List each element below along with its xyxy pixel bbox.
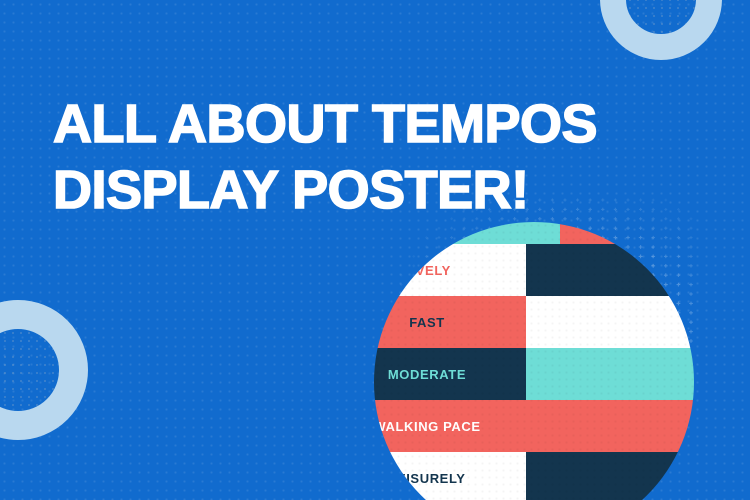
tempo-row-description-cell: WALKING PACE [374, 400, 526, 452]
tempo-row-name-cell: MODERATO108 - 120BPM [526, 348, 694, 400]
tempo-row: LIVELYVIVACE168 - 176BPM [374, 244, 694, 296]
ring-dot-texture [0, 329, 59, 411]
poster-preview-canvas: ALL ABOUT TEMPOS DISPLAY POSTER! LIVELYV… [0, 0, 750, 500]
title-line-1: ALL ABOUT TEMPOS [53, 91, 713, 157]
tempo-row: MODERATEMODERATO108 - 120BPM [374, 348, 694, 400]
tempo-row-name-cell: ADAGIO66 - 76BPM [526, 452, 694, 500]
title-line-2: DISPLAY POSTER! [53, 157, 713, 223]
tempo-row-description-cell: LIVELY [374, 244, 526, 296]
tempo-row-description-cell: MODERATE [374, 348, 526, 400]
tempo-row-list: LIVELYVIVACE168 - 176BPMFASTALLEGRO120 -… [374, 244, 694, 500]
tempo-description-label: LIVELY [403, 263, 451, 278]
page-title: ALL ABOUT TEMPOS DISPLAY POSTER! [53, 91, 713, 223]
tempo-name-label: MODERATO [693, 350, 694, 384]
tempo-description-label: MODERATE [388, 367, 466, 382]
ring-dot-texture [626, 0, 696, 34]
tempo-row-name-cell: ALLEGRO120 - 168BPM [526, 296, 694, 348]
tempo-row-description-cell: LEISURELY [374, 452, 526, 500]
tempo-row: FASTALLEGRO120 - 168BPM [374, 296, 694, 348]
tempo-row-name-cell: ANDANTE76 - 108BPM [526, 400, 694, 452]
tempo-description-label: LEISURELY [388, 471, 465, 486]
decorative-ring-top-right-icon [600, 0, 722, 60]
poster-top-band [374, 222, 694, 244]
tempo-row-name-cell: VIVACE168 - 176BPM [526, 244, 694, 296]
top-band-salmon-segment [560, 222, 694, 244]
tempo-poster-content: LIVELYVIVACE168 - 176BPMFASTALLEGRO120 -… [374, 222, 694, 500]
decorative-ring-bottom-left-icon [0, 300, 88, 440]
tempo-poster-circle[interactable]: LIVELYVIVACE168 - 176BPMFASTALLEGRO120 -… [374, 222, 694, 500]
tempo-description-label: WALKING PACE [374, 419, 481, 434]
top-band-mint-segment [374, 222, 560, 244]
tempo-row: LEISURELYADAGIO66 - 76BPM [374, 452, 694, 500]
tempo-row: WALKING PACEANDANTE76 - 108BPM [374, 400, 694, 452]
tempo-row-description-cell: FAST [374, 296, 526, 348]
tempo-description-label: FAST [409, 315, 445, 330]
